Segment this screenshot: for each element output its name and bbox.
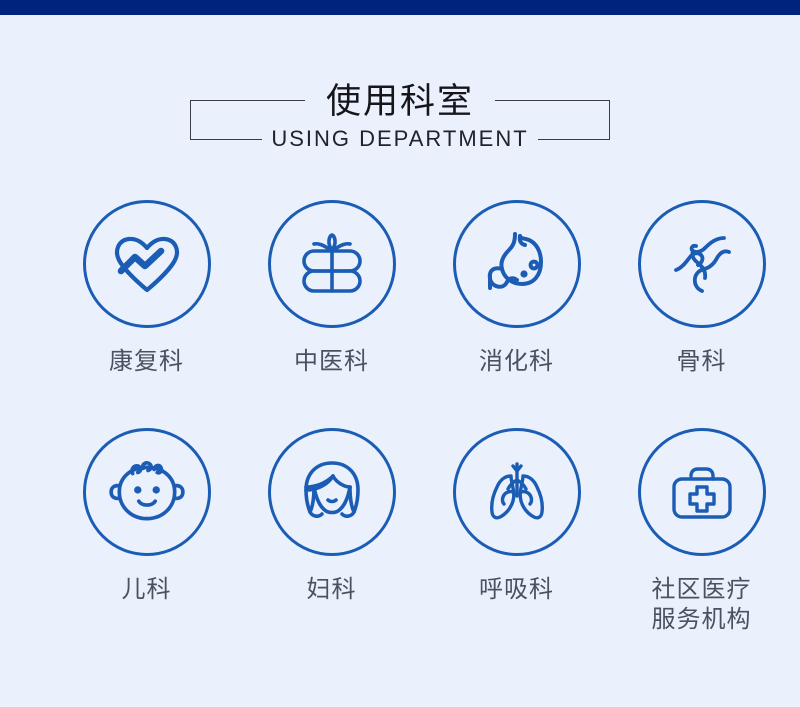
bone-joint-icon <box>638 200 766 328</box>
heart-pulse-icon <box>83 200 211 328</box>
department-item-tcm[interactable]: 中医科 <box>239 200 424 377</box>
baby-face-icon <box>83 428 211 556</box>
department-label: 中医科 <box>294 347 369 377</box>
department-row-1: 康复科 中医科 <box>0 200 800 377</box>
woman-face-icon <box>268 428 396 556</box>
department-label: 妇科 <box>307 575 357 605</box>
department-item-orthopedics[interactable]: 骨科 <box>609 200 794 377</box>
first-aid-kit-icon <box>638 428 766 556</box>
department-label: 骨科 <box>677 347 727 377</box>
department-row-2: 儿科 妇科 <box>0 428 800 635</box>
department-item-respiratory[interactable]: 呼吸科 <box>424 428 609 605</box>
department-label: 消化科 <box>479 347 554 377</box>
lungs-icon <box>453 428 581 556</box>
department-label: 社区医疗 服务机构 <box>652 575 752 635</box>
department-label: 康复科 <box>109 347 184 377</box>
department-item-rehabilitation[interactable]: 康复科 <box>54 200 239 377</box>
top-navy-bar <box>0 0 800 15</box>
page-title: 使用科室 <box>0 80 800 124</box>
department-item-gastroenterology[interactable]: 消化科 <box>424 200 609 377</box>
department-label: 儿科 <box>122 575 172 605</box>
department-grid: 康复科 中医科 <box>0 200 800 635</box>
department-label: 呼吸科 <box>479 575 554 605</box>
herb-packet-icon <box>268 200 396 328</box>
section-header: 使用科室 USING DEPARTMENT <box>0 86 800 154</box>
page-subtitle: USING DEPARTMENT <box>0 125 800 153</box>
department-item-gynecology[interactable]: 妇科 <box>239 428 424 605</box>
department-item-community-medical[interactable]: 社区医疗 服务机构 <box>609 428 794 635</box>
stomach-icon <box>453 200 581 328</box>
department-item-pediatrics[interactable]: 儿科 <box>54 428 239 605</box>
